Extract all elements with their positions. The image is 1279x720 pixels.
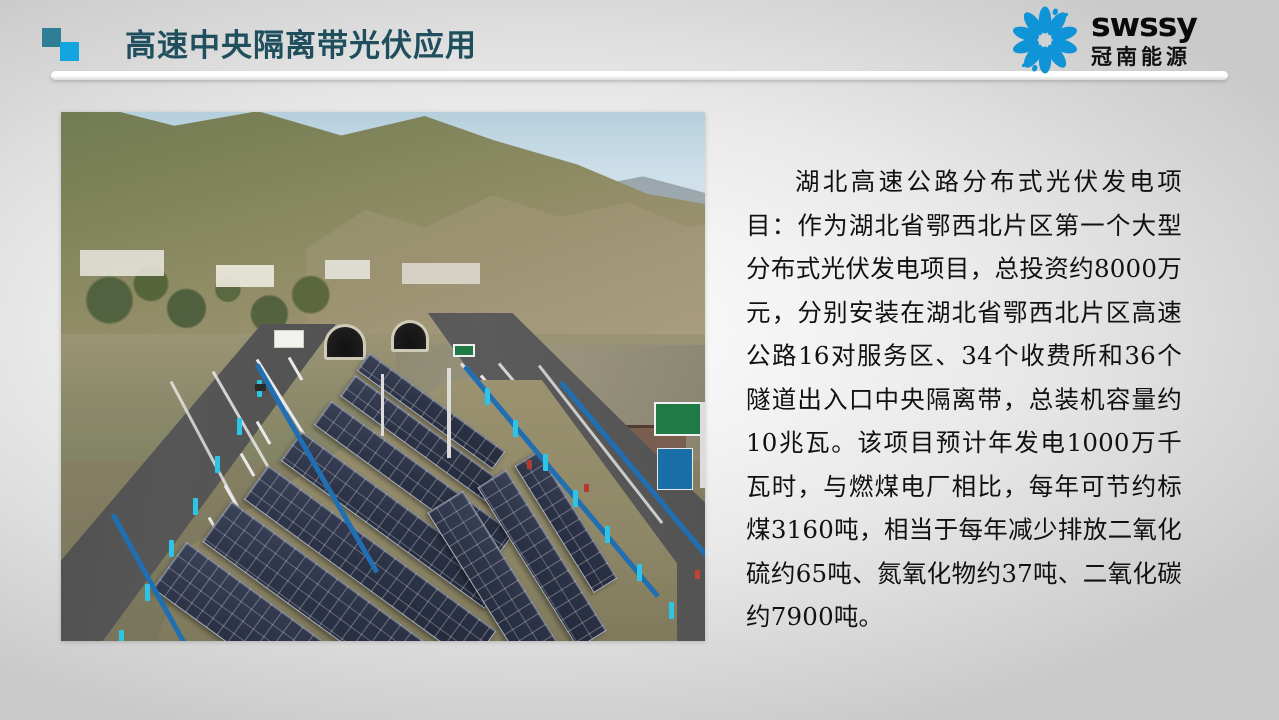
guardrail-post <box>513 420 518 437</box>
green-road-sign-large <box>654 402 705 436</box>
photo-building-cluster <box>216 265 274 286</box>
company-logo: swssy 冠南能源 <box>1009 4 1261 78</box>
swssy-droplet-flower-mark-icon <box>1009 6 1081 74</box>
green-road-sign <box>453 344 475 357</box>
photo-building-cluster <box>80 250 164 276</box>
tunnel-portal-right <box>391 320 429 352</box>
decoration-square-light <box>60 42 79 61</box>
guardrail-post <box>669 602 674 619</box>
guardrail-post <box>193 498 198 515</box>
slide-header: 高速中央隔离带光伏应用 <box>0 0 1279 88</box>
vehicle <box>255 384 266 391</box>
guardrail-post <box>119 630 124 641</box>
decoration-square-dark <box>42 28 61 47</box>
photo-building-cluster <box>402 263 479 284</box>
photo-scene <box>61 112 705 641</box>
traffic-cone <box>527 460 532 469</box>
guardrail-post <box>169 540 174 557</box>
guardrail-post <box>605 526 610 543</box>
guardrail-post <box>145 584 150 601</box>
blue-road-sign <box>657 448 693 490</box>
traffic-cone <box>584 484 589 492</box>
traffic-cone <box>695 570 700 579</box>
logo-wordmark: swssy <box>1091 8 1197 42</box>
guardrail-post <box>637 564 642 581</box>
photo-building-cluster <box>325 260 370 279</box>
guardrail-post <box>543 454 548 471</box>
guardrail-post <box>237 418 242 435</box>
photo-roadside-building <box>274 330 304 348</box>
guardrail-post <box>573 490 578 507</box>
light-pole <box>381 374 384 436</box>
page-title: 高速中央隔离带光伏应用 <box>125 20 477 65</box>
project-description-paragraph: 湖北高速公路分布式光伏发电项目：作为湖北省鄂西北片区第一个大型分布式光伏发电项目… <box>746 160 1182 639</box>
logo-company-name-cn: 冠南能源 <box>1091 45 1197 69</box>
light-pole <box>447 368 451 458</box>
guardrail-post <box>485 388 490 405</box>
guardrail-post <box>215 456 220 473</box>
header-decoration-squares <box>42 28 86 62</box>
logo-text-group: swssy 冠南能源 <box>1091 8 1197 69</box>
tunnel-portal-left <box>324 324 366 360</box>
sign-gantry-pole <box>700 402 705 488</box>
highway-solar-photo <box>61 112 705 641</box>
